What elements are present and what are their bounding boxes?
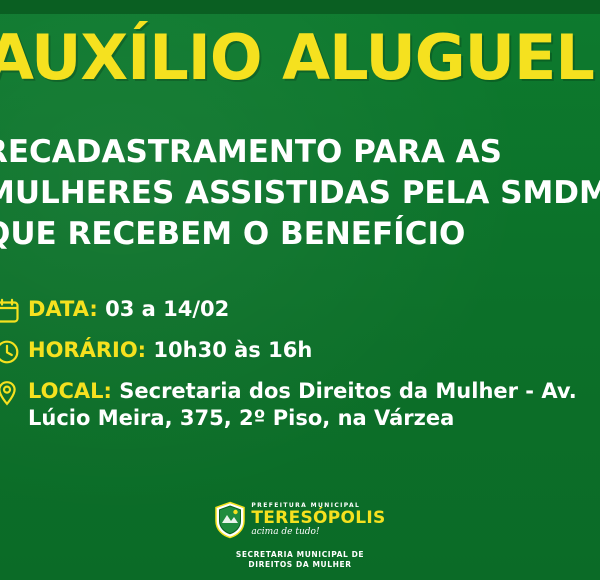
info-value-date: 03 a 14/02 <box>105 297 229 321</box>
info-text-location: LOCAL: Secretaria dos Direitos da Mulher… <box>28 378 600 432</box>
info-row-location: LOCAL: Secretaria dos Direitos da Mulher… <box>0 378 600 432</box>
department-line-1: SECRETARIA MUNICIPAL DE <box>0 550 600 560</box>
poster-content: AUXÍLIO ALUGUEL RECADASTRAMENTO PARA AS … <box>0 0 600 580</box>
brand-lockup: PREFEITURA MUNICIPAL TERESÓPOLIS acima d… <box>214 501 385 539</box>
coat-of-arms-icon <box>214 501 246 539</box>
city-name: TERESÓPOLIS <box>251 510 385 527</box>
info-row-date: DATA: 03 a 14/02 <box>0 296 600 324</box>
poster-canvas: AUXÍLIO ALUGUEL RECADASTRAMENTO PARA AS … <box>0 0 600 580</box>
info-value-time: 10h30 às 16h <box>153 338 312 362</box>
subtitle-line-1: RECADASTRAMENTO PARA AS <box>0 132 600 173</box>
subtitle-block: RECADASTRAMENTO PARA AS MULHERES ASSISTI… <box>0 132 600 255</box>
info-label-time: HORÁRIO: <box>28 338 146 362</box>
subtitle-line-2: MULHERES ASSISTIDAS PELA SMDM <box>0 173 600 214</box>
calendar-icon <box>0 298 20 324</box>
clock-icon <box>0 339 20 365</box>
department-label: SECRETARIA MUNICIPAL DE DIREITOS DA MULH… <box>0 550 600 570</box>
info-text-date: DATA: 03 a 14/02 <box>28 296 229 323</box>
subtitle-line-3: QUE RECEBEM O BENEFÍCIO <box>0 214 600 255</box>
footer-logo-block: PREFEITURA MUNICIPAL TERESÓPOLIS acima d… <box>0 501 600 570</box>
department-line-2: DIREITOS DA MULHER <box>0 560 600 570</box>
page-title: AUXÍLIO ALUGUEL <box>0 26 600 90</box>
city-wordmark: PREFEITURA MUNICIPAL TERESÓPOLIS acima d… <box>251 503 385 537</box>
city-slogan: acima de tudo! <box>251 528 385 537</box>
location-pin-icon <box>0 380 20 406</box>
info-row-time: HORÁRIO: 10h30 às 16h <box>0 337 600 365</box>
info-text-time: HORÁRIO: 10h30 às 16h <box>28 337 312 364</box>
info-label-date: DATA: <box>28 297 98 321</box>
info-label-location: LOCAL: <box>28 379 112 403</box>
info-list: DATA: 03 a 14/02 HORÁRIO: 10h30 às 16h <box>0 296 600 445</box>
